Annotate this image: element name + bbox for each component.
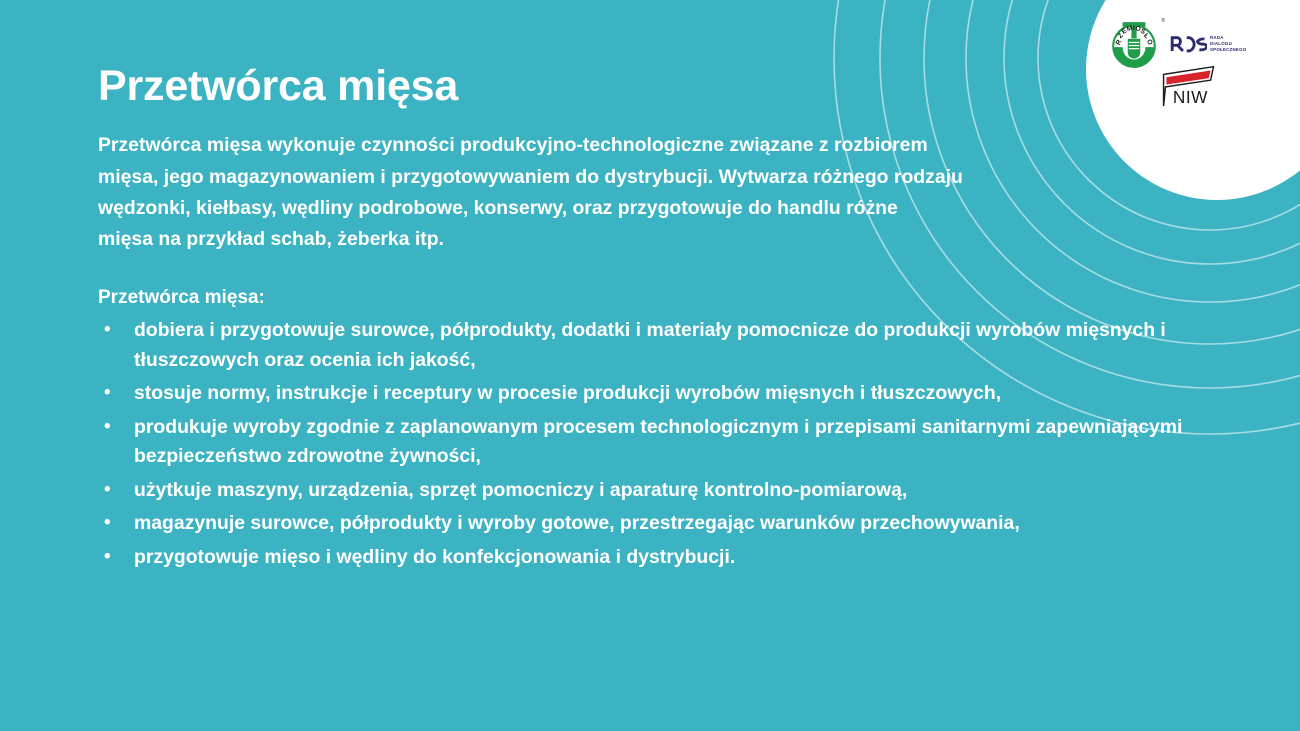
registered-trademark-icon: ®	[1161, 19, 1165, 24]
intro-line: mięsa, jego magazynowaniem i przygotowyw…	[98, 162, 1218, 193]
rds-logo-text: RADA DIALOGU SPOŁECZNEGO	[1210, 35, 1246, 54]
list-item-label: stosuje normy, instrukcje i receptury w …	[134, 379, 1248, 408]
list-item-label: produkuje wyroby zgodnie z zaplanowanym …	[134, 413, 1248, 472]
bullet-icon: •	[104, 316, 111, 345]
intro-line: wędzonki, kiełbasy, wędliny podrobowe, k…	[98, 193, 1218, 224]
list-item: • dobiera i przygotowuje surowce, półpro…	[98, 316, 1248, 375]
rds-logo: RADA DIALOGU SPOŁECZNEGO	[1169, 34, 1246, 54]
intro-paragraph: Przetwórca mięsa wykonuje czynności prod…	[98, 130, 1218, 256]
bullet-icon: •	[104, 379, 111, 408]
svg-text:R: R	[1115, 39, 1124, 47]
list-item-label: użytkuje maszyny, urządzenia, sprzęt pom…	[134, 476, 1248, 505]
duties-list-lead: Przetwórca mięsa:	[98, 284, 1248, 313]
bullet-icon: •	[104, 543, 111, 572]
duties-list: • dobiera i przygotowuje surowce, półpro…	[98, 316, 1248, 572]
list-item: • przygotowuje mięso i wędliny do konfek…	[98, 543, 1248, 572]
page-title: Przetwórca mięsa	[98, 62, 1248, 110]
list-item: • użytkuje maszyny, urządzenia, sprzęt p…	[98, 476, 1248, 505]
list-item: • stosuje normy, instrukcje i receptury …	[98, 379, 1248, 408]
slide: R Z E M I O S Ł O ®	[0, 0, 1300, 731]
list-item-label: magazynuje surowce, półprodukty i wyroby…	[134, 509, 1248, 538]
intro-line: Przetwórca mięsa wykonuje czynności prod…	[98, 130, 1218, 161]
svg-text:O: O	[1145, 38, 1154, 46]
bullet-icon: •	[104, 509, 111, 538]
slide-content: Przetwórca mięsa Przetwórca mięsa wykonu…	[98, 62, 1248, 576]
bullet-icon: •	[104, 413, 111, 442]
list-item: • magazynuje surowce, półprodukty i wyro…	[98, 509, 1248, 538]
list-item-label: przygotowuje mięso i wędliny do konfekcj…	[134, 543, 1248, 572]
rds-mark-icon	[1169, 34, 1207, 54]
bullet-icon: •	[104, 476, 111, 505]
list-item-label: dobiera i przygotowuje surowce, półprodu…	[134, 316, 1248, 375]
intro-line: mięsa na przykład schab, żeberka itp.	[98, 224, 1218, 255]
rds-line-3: SPOŁECZNEGO	[1210, 47, 1246, 53]
list-item: • produkuje wyroby zgodnie z zaplanowany…	[98, 413, 1248, 472]
